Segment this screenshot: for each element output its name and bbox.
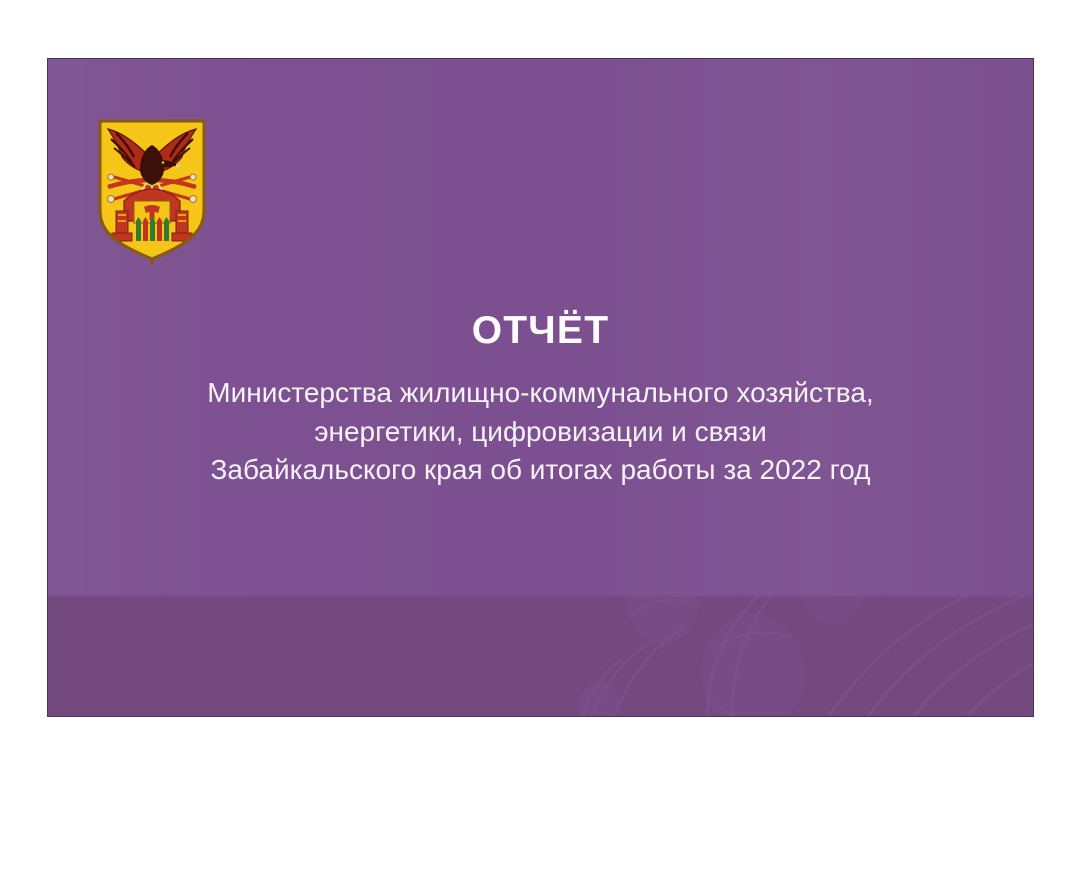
slide-title-block: ОТЧЁТ Министерства жилищно-коммунального… bbox=[48, 311, 1033, 490]
slide-subtitle: Министерства жилищно-коммунального хозяй… bbox=[48, 374, 1033, 490]
coat-of-arms-icon bbox=[94, 115, 210, 265]
floral-ornament-icon bbox=[503, 595, 1033, 716]
decorative-footer-band bbox=[48, 595, 1033, 716]
band-top-edge bbox=[48, 595, 1033, 598]
presentation-slide: ОТЧЁТ Министерства жилищно-коммунального… bbox=[47, 58, 1034, 717]
subtitle-line-1: Министерства жилищно-коммунального хозяй… bbox=[108, 374, 973, 413]
page-title: ОТЧЁТ bbox=[48, 311, 1033, 352]
subtitle-line-3: Забайкальского края об итогах работы за … bbox=[108, 451, 973, 490]
subtitle-line-2: энергетики, цифровизации и связи bbox=[108, 413, 973, 452]
